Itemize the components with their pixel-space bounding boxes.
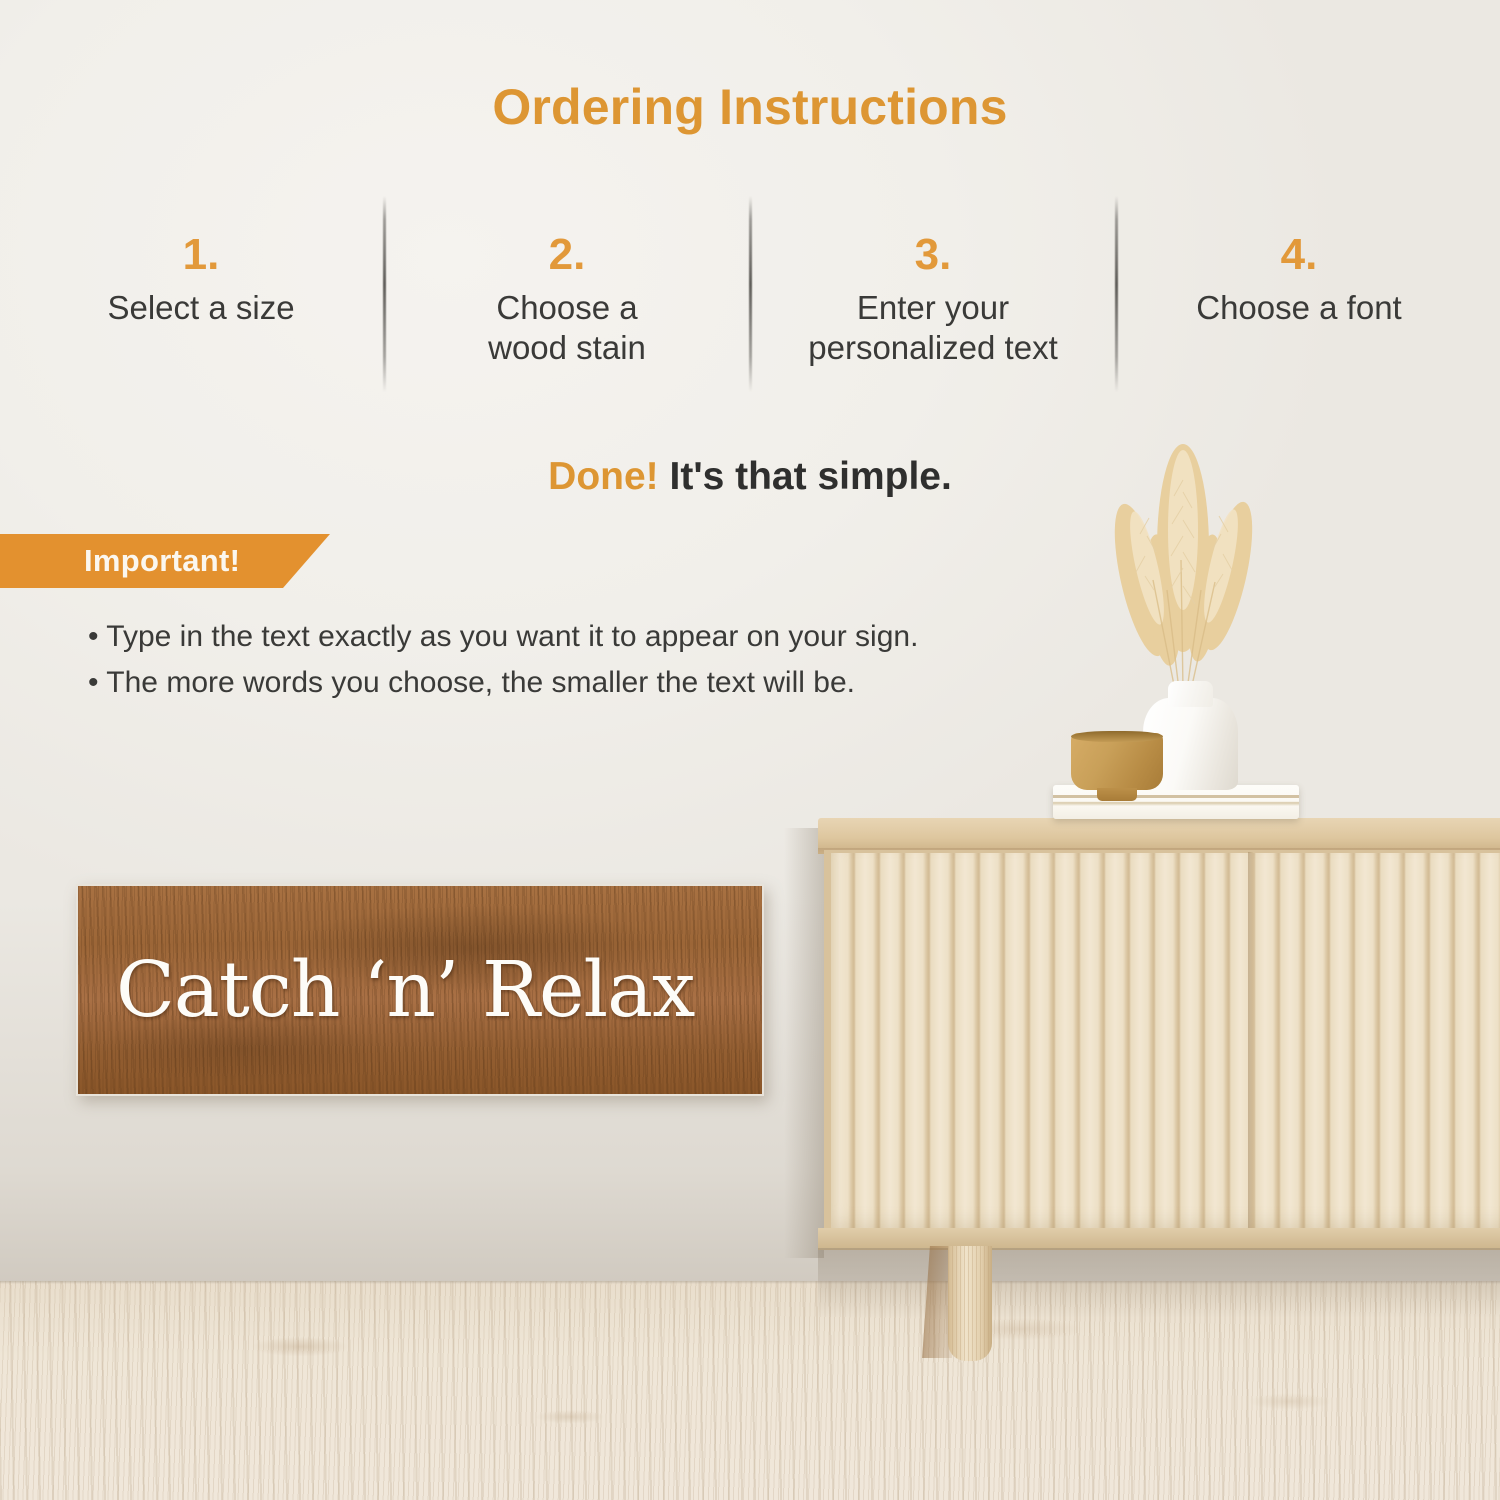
step-3-number: 3. xyxy=(762,232,1104,278)
important-ribbon: Important! xyxy=(0,534,330,588)
important-bullet-list: • Type in the text exactly as you want i… xyxy=(88,614,1188,705)
step-2-number: 2. xyxy=(396,232,738,278)
bullet-item-1: • Type in the text exactly as you want i… xyxy=(88,614,1188,660)
important-ribbon-label: Important! xyxy=(0,543,240,579)
step-3-label: Enter your personalized text xyxy=(762,288,1104,369)
step-3: 3. Enter your personalized text xyxy=(750,232,1116,369)
step-4: 4. Choose a font xyxy=(1116,232,1482,369)
infographic-overlay: Ordering Instructions 1. Select a size 2… xyxy=(0,0,1500,1500)
step-2: 2. Choose a wood stain xyxy=(384,232,750,369)
step-1-number: 1. xyxy=(30,232,372,278)
steps-row: 1. Select a size 2. Choose a wood stain … xyxy=(18,232,1482,369)
done-highlight: Done! xyxy=(548,455,659,498)
step-4-label: Choose a font xyxy=(1128,288,1470,328)
step-1: 1. Select a size xyxy=(18,232,384,369)
step-2-label: Choose a wood stain xyxy=(396,288,738,369)
page-title: Ordering Instructions xyxy=(0,78,1500,136)
done-rest: It's that simple. xyxy=(670,455,952,498)
done-line: Done! It's that simple. xyxy=(0,455,1500,499)
step-4-number: 4. xyxy=(1128,232,1470,278)
bullet-item-2: • The more words you choose, the smaller… xyxy=(88,660,1188,706)
step-1-label: Select a size xyxy=(30,288,372,328)
